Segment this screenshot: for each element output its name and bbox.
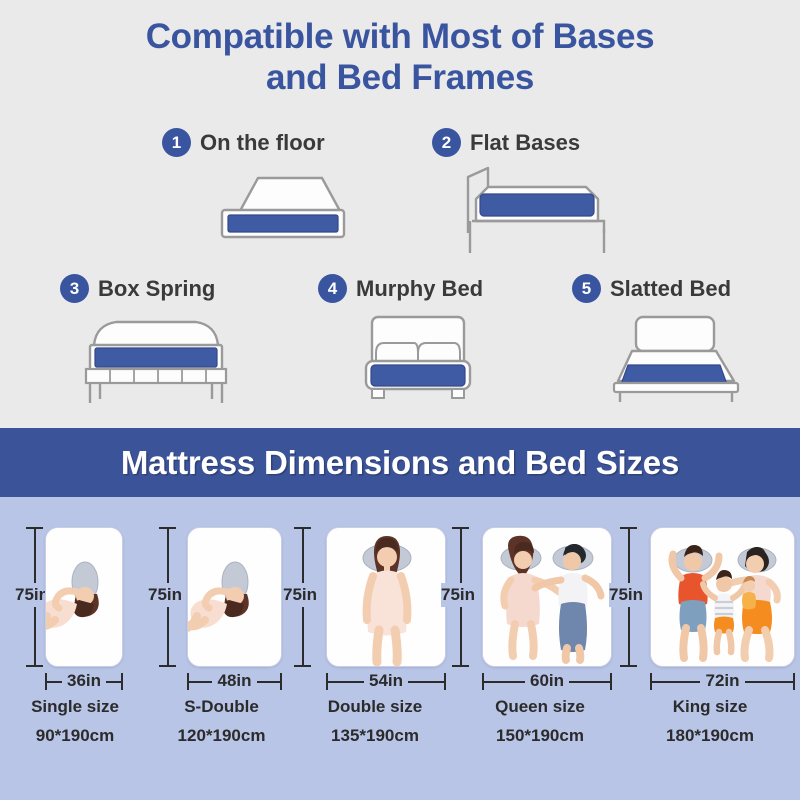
size-metric-label: 120*190cm: [143, 726, 300, 746]
base-item-header: 4 Murphy Bed: [318, 274, 483, 303]
step-number-badge: 1: [162, 128, 191, 157]
box-spring-bed-icon: [76, 309, 236, 405]
step-number-badge: 4: [318, 274, 347, 303]
compatible-bases-section: Compatible with Most of Bases and Bed Fr…: [0, 0, 800, 428]
base-item-label: Slatted Bed: [610, 276, 731, 302]
width-dimension-marker-double: 54in: [326, 672, 446, 692]
size-name-label: Single size: [0, 697, 150, 717]
height-dimension-marker-double: 75in: [286, 527, 320, 667]
size-name-label: S-Double: [143, 697, 300, 717]
base-item-label: Box Spring: [98, 276, 215, 302]
page-title-line-2: and Bed Frames: [0, 57, 800, 98]
width-dimension-marker-queen: 60in: [482, 672, 612, 692]
dimension-cap-bottom: [26, 665, 43, 667]
sleeper-illustration-queen: [483, 528, 611, 666]
sleeper-illustration-single: [46, 528, 122, 666]
dimension-cap-bottom: [620, 665, 637, 667]
size-name-label: King size: [620, 697, 800, 717]
width-dimension-marker-king: 72in: [650, 672, 795, 692]
size-cards-row: 75in: [0, 497, 800, 800]
base-item-label: Flat Bases: [470, 130, 580, 156]
dimension-cap-top: [452, 527, 469, 529]
size-metric-label: 150*190cm: [450, 726, 630, 746]
width-dimension-label: 48in: [187, 671, 282, 691]
base-item-header: 2 Flat Bases: [432, 128, 610, 157]
size-name-label: Double size: [290, 697, 460, 717]
page-title: Compatible with Most of Bases and Bed Fr…: [0, 16, 800, 99]
base-item-header: 5 Slatted Bed: [572, 274, 762, 303]
size-name-label: Queen size: [450, 697, 630, 717]
size-metric-label: 180*190cm: [620, 726, 800, 746]
dimension-cap-top: [294, 527, 311, 529]
dimension-cap-top: [159, 527, 176, 529]
mattress-card: [45, 527, 123, 667]
width-dimension-label: 36in: [45, 671, 123, 691]
base-item-murphy-bed: 4 Murphy Bed: [318, 274, 483, 407]
height-dimension-marker-king: 75in: [612, 527, 646, 667]
height-dimension-label: 75in: [148, 583, 182, 607]
base-item-label: Murphy Bed: [356, 276, 483, 302]
base-item-box-spring: 3 Box Spring: [60, 274, 236, 405]
sleeper-illustration-s-double: [188, 528, 281, 666]
height-dimension-label: 75in: [609, 583, 643, 607]
base-item-flat-bases: 2 Flat Bases: [432, 128, 610, 258]
height-dimension-label: 75in: [15, 583, 49, 607]
step-number-badge: 5: [572, 274, 601, 303]
flat-base-bed-icon: [458, 163, 610, 258]
base-item-header: 1 On the floor: [162, 128, 352, 157]
width-dimension-marker-s-double: 48in: [187, 672, 282, 692]
slatted-bed-icon: [604, 309, 762, 407]
base-item-on-the-floor: 1 On the floor: [162, 128, 352, 253]
dimension-cap-top: [26, 527, 43, 529]
base-item-label: On the floor: [200, 130, 325, 156]
mattress-sizes-section: 75in: [0, 497, 800, 800]
step-number-badge: 2: [432, 128, 461, 157]
mattress-card: [187, 527, 282, 667]
mattress-on-floor-icon: [212, 163, 352, 253]
width-dimension-label: 54in: [326, 671, 446, 691]
mattress-dimensions-banner: Mattress Dimensions and Bed Sizes: [0, 428, 800, 497]
dimension-cap-bottom: [294, 665, 311, 667]
sleeper-illustration-double: [327, 528, 445, 666]
width-dimension-marker-single: 36in: [45, 672, 123, 692]
height-dimension-marker-queen: 75in: [444, 527, 478, 667]
height-dimension-label: 75in: [441, 583, 475, 607]
dimension-cap-bottom: [452, 665, 469, 667]
dimension-cap-bottom: [159, 665, 176, 667]
dimension-cap-top: [620, 527, 637, 529]
base-item-header: 3 Box Spring: [60, 274, 236, 303]
width-dimension-label: 60in: [482, 671, 612, 691]
mattress-card: [650, 527, 795, 667]
page-title-line-1: Compatible with Most of Bases: [0, 16, 800, 57]
size-metric-label: 135*190cm: [290, 726, 460, 746]
infographic-page: Compatible with Most of Bases and Bed Fr…: [0, 0, 800, 800]
size-metric-label: 90*190cm: [0, 726, 150, 746]
mattress-card: [482, 527, 612, 667]
base-item-slatted-bed: 5 Slatted Bed: [572, 274, 762, 407]
banner-title: Mattress Dimensions and Bed Sizes: [121, 444, 679, 482]
width-dimension-label: 72in: [650, 671, 795, 691]
height-dimension-label: 75in: [283, 583, 317, 607]
murphy-bed-icon: [354, 309, 483, 407]
step-number-badge: 3: [60, 274, 89, 303]
mattress-card: [326, 527, 446, 667]
sleeper-illustration-king: [651, 528, 794, 666]
height-dimension-marker-s-double: 75in: [151, 527, 185, 667]
